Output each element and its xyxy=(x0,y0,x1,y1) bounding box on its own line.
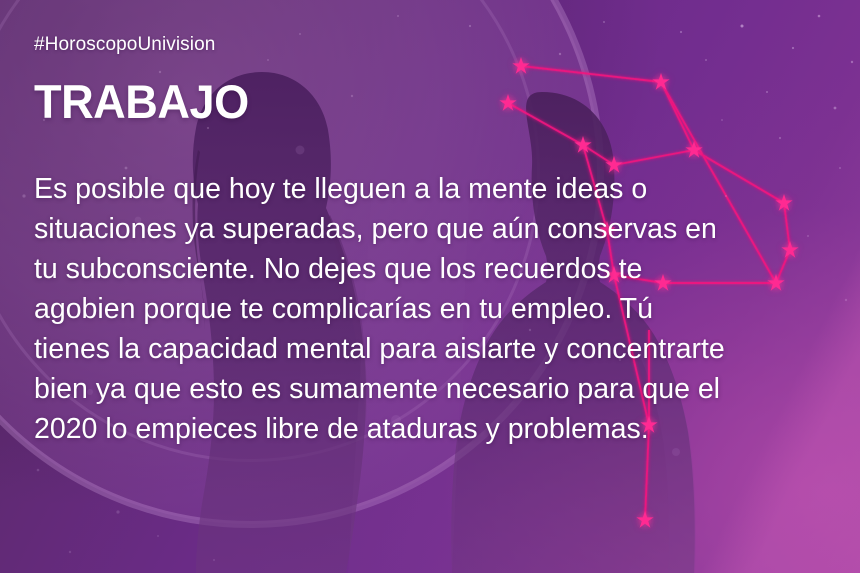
hashtag-label: #HoroscopoUnivision xyxy=(34,34,832,56)
horoscope-card: #HoroscopoUnivision TRABAJO Es posible q… xyxy=(0,0,860,573)
horoscope-body-text: Es posible que hoy te lleguen a la mente… xyxy=(34,169,832,449)
text-content: #HoroscopoUnivision TRABAJO Es posible q… xyxy=(0,0,860,573)
page-title: TRABAJO xyxy=(34,78,800,125)
